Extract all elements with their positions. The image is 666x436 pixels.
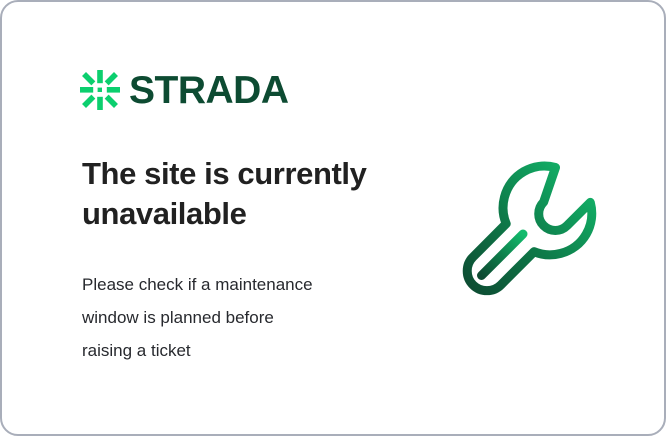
description-line: Please check if a maintenance <box>82 268 402 301</box>
page-description: Please check if a maintenance window is … <box>82 268 402 367</box>
status-card: STRADA The site is currently unavailable… <box>0 0 666 436</box>
description-line: raising a ticket <box>82 334 402 367</box>
wrench-icon <box>457 154 615 310</box>
description-line: window is planned before <box>82 301 402 334</box>
brand-wordmark: STRADA <box>129 71 289 110</box>
brand-lockup: STRADA <box>80 70 289 110</box>
strada-asterisk-icon <box>80 70 120 110</box>
page-title: The site is currently unavailable <box>82 154 422 233</box>
